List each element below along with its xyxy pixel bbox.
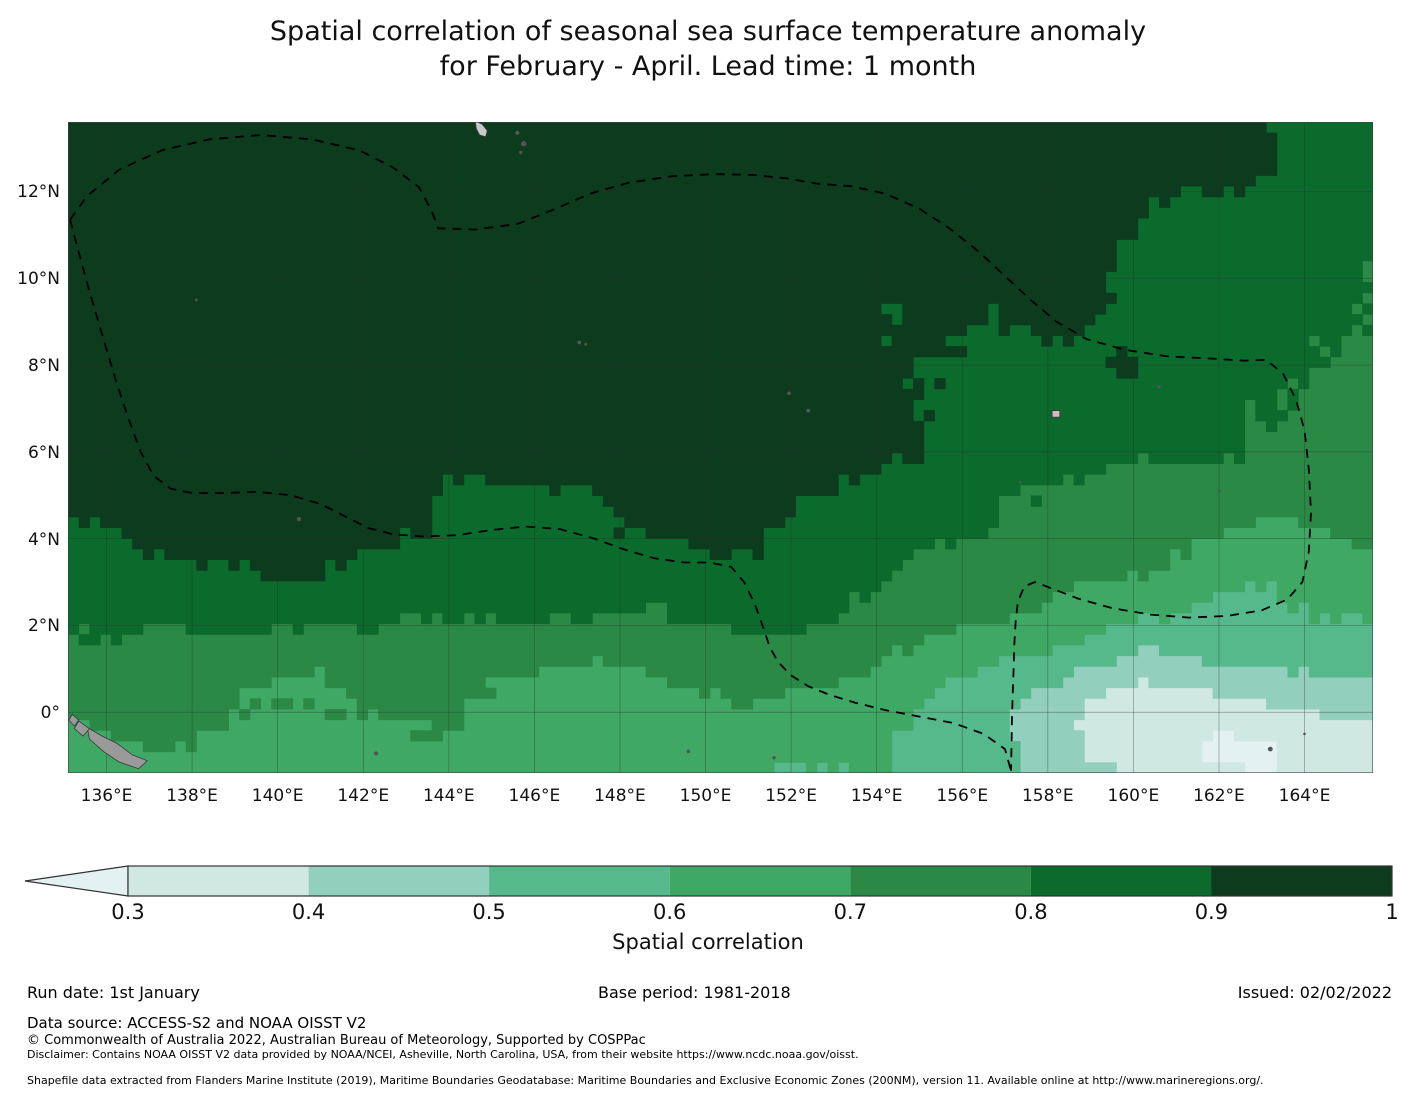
colorbar-tick-0.9: 0.9 — [1195, 900, 1228, 924]
island-speck — [1303, 733, 1306, 736]
y-tick-10°N: 10°N — [17, 269, 60, 289]
colorbar-band-0.9-1 — [1211, 866, 1392, 896]
colorbar-band-0.4-0.5 — [309, 866, 490, 896]
island-speck — [584, 343, 587, 346]
colorbar-tick-labels: 0.30.40.50.60.70.80.91 — [0, 900, 1416, 928]
island-speck — [1157, 385, 1160, 388]
island-speck — [515, 131, 519, 135]
x-tick-144°E: 144°E — [423, 786, 475, 806]
colorbar-tick-0.7: 0.7 — [834, 900, 867, 924]
y-axis-tick-labels: 12°N10°N8°N6°N4°N2°N0° — [0, 122, 60, 773]
colorbar-tick-0.3: 0.3 — [111, 900, 144, 924]
colorbar-band-0.7-0.8 — [850, 866, 1031, 896]
x-tick-158°E: 158°E — [1022, 786, 1074, 806]
x-tick-164°E: 164°E — [1279, 786, 1331, 806]
base-period: Base period: 1981-2018 — [598, 983, 791, 1002]
colorbar — [0, 862, 1416, 904]
colorbar-tick-0.5: 0.5 — [472, 900, 505, 924]
page-title: Spatial correlation of seasonal sea surf… — [0, 14, 1416, 84]
run-date: Run date: 1st January — [27, 983, 200, 1002]
colorbar-tick-0.4: 0.4 — [292, 900, 325, 924]
island-speck — [374, 751, 378, 755]
x-tick-154°E: 154°E — [851, 786, 903, 806]
map-plot-area — [68, 122, 1373, 773]
x-tick-152°E: 152°E — [765, 786, 817, 806]
colorbar-band-0.6-0.7 — [670, 866, 851, 896]
x-tick-162°E: 162°E — [1193, 786, 1245, 806]
x-tick-160°E: 160°E — [1108, 786, 1160, 806]
island-speck — [577, 341, 581, 345]
colorbar-band-0.8-0.9 — [1031, 866, 1212, 896]
x-tick-136°E: 136°E — [81, 786, 133, 806]
y-tick-6°N: 6°N — [28, 443, 60, 463]
x-tick-146°E: 146°E — [509, 786, 561, 806]
y-tick-4°N: 4°N — [28, 530, 60, 550]
x-tick-156°E: 156°E — [936, 786, 988, 806]
island-speck — [521, 141, 526, 146]
island-speck — [787, 392, 791, 396]
disclaimer-text: Disclaimer: Contains NOAA OISST V2 data … — [27, 1048, 1407, 1062]
island-speck — [519, 151, 522, 154]
colorbar-tick-0.8: 0.8 — [1014, 900, 1047, 924]
metadata-row: Run date: 1st January Base period: 1981-… — [0, 983, 1416, 1011]
x-tick-142°E: 142°E — [337, 786, 389, 806]
shapefile-text: Shapefile data extracted from Flanders M… — [27, 1074, 1407, 1088]
island-speck — [195, 299, 198, 302]
x-tick-140°E: 140°E — [252, 786, 304, 806]
credits-block: Data source: ACCESS-S2 and NOAA OISST V2… — [27, 1013, 1407, 1088]
island-speck — [806, 409, 810, 413]
y-tick-8°N: 8°N — [28, 356, 60, 376]
y-tick-0°: 0° — [41, 703, 60, 723]
correlation-heatmap — [68, 122, 1373, 773]
colorbar-extend-min-arrow — [25, 866, 128, 896]
island-speck — [1268, 747, 1273, 752]
colorbar-tick-1: 1 — [1385, 900, 1398, 924]
copyright-text: © Commonwealth of Australia 2022, Austra… — [27, 1033, 1407, 1048]
x-axis-tick-labels: 136°E138°E140°E142°E144°E146°E148°E150°E… — [0, 786, 1416, 810]
colorbar-band-0.5-0.6 — [489, 866, 670, 896]
island-speck — [772, 756, 776, 760]
heatmap-cells — [68, 122, 1373, 773]
island-speck — [687, 750, 691, 754]
issued-date: Issued: 02/02/2022 — [1238, 983, 1392, 1002]
island-speck — [1019, 481, 1021, 483]
land-polygon — [1052, 411, 1060, 418]
island-speck — [1218, 489, 1221, 492]
colorbar-label: Spatial correlation — [0, 930, 1416, 954]
y-tick-2°N: 2°N — [28, 616, 60, 636]
x-tick-148°E: 148°E — [594, 786, 646, 806]
y-tick-12°N: 12°N — [17, 182, 60, 202]
data-source-text: Data source: ACCESS-S2 and NOAA OISST V2 — [27, 1013, 1407, 1033]
island-speck — [297, 517, 301, 521]
colorbar-band-0.3-0.4 — [128, 866, 309, 896]
x-tick-138°E: 138°E — [166, 786, 218, 806]
colorbar-tick-0.6: 0.6 — [653, 900, 686, 924]
colorbar-gradient — [0, 862, 1416, 904]
x-tick-150°E: 150°E — [680, 786, 732, 806]
